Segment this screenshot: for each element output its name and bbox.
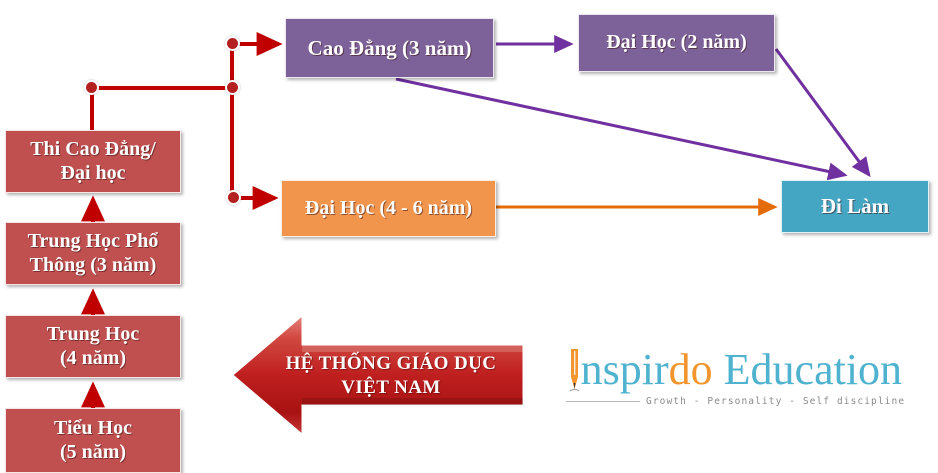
- logo-wordmark: Inspirdo Education: [566, 345, 902, 395]
- logo-word-part3: Education: [713, 345, 902, 394]
- node-cao-dang[interactable]: Cao Đẳng (3 năm): [285, 18, 494, 78]
- node-label-line2: Thông (3 năm): [30, 254, 157, 276]
- node-label: Đi Làm: [821, 194, 889, 219]
- banner-title-line1: HỆ THỐNG GIÁO DỤC: [286, 353, 497, 374]
- logo-tagline-row: Growth - Personality - Self discipline: [566, 396, 896, 407]
- junction-dot: [84, 80, 99, 95]
- node-label-line1: Tiểu Học: [54, 417, 132, 439]
- banner-title-line2: VIỆT NAM: [341, 377, 440, 398]
- node-trung-hoc-pho-thong[interactable]: Trung Học Phổ Thông (3 năm): [5, 222, 181, 285]
- inspirdo-education-logo: Inspirdo Education Growth - Personality …: [566, 345, 896, 413]
- banner-arrow-shape: [233, 316, 523, 434]
- logo-word-part2: do: [669, 345, 713, 394]
- node-label-line1: Trung Học: [47, 323, 139, 345]
- diagram-canvas: Thi Cao Đẳng/ Đại học Trung Học Phổ Thôn…: [0, 0, 938, 473]
- node-label-line2: Đại học: [61, 162, 126, 184]
- logo-divider: [566, 401, 640, 402]
- logo-tagline: Growth - Personality - Self discipline: [646, 396, 905, 407]
- node-label-line1: Thi Cao Đẳng/: [30, 138, 156, 160]
- junction-dot: [225, 36, 240, 51]
- node-label: Đại Học (4 - 6 năm): [305, 197, 472, 221]
- edge-daihoc2-dilam: [776, 49, 869, 175]
- node-label: Cao Đẳng (3 năm): [308, 36, 472, 61]
- logo-word-part1: nspir: [581, 345, 669, 394]
- node-label-line2: (5 năm): [60, 441, 126, 463]
- junction-dot: [225, 80, 240, 95]
- node-thi-cao-dang[interactable]: Thi Cao Đẳng/ Đại học: [5, 130, 181, 193]
- banner-title: HỆ THỐNG GIÁO DỤC VIỆT NAM: [262, 352, 520, 400]
- node-di-lam[interactable]: Đi Làm: [781, 180, 929, 233]
- node-tieu-hoc[interactable]: Tiểu Học (5 năm): [5, 408, 181, 473]
- node-label-line2: (4 năm): [60, 347, 126, 369]
- node-dai-hoc-2-nam[interactable]: Đại Học (2 năm): [578, 14, 775, 72]
- node-dai-hoc-4-6-nam[interactable]: Đại Học (4 - 6 năm): [281, 180, 496, 237]
- junction-dot: [226, 190, 241, 205]
- pen-nib-icon: [568, 349, 581, 395]
- edge-caodang-dilam: [396, 79, 845, 175]
- node-label-line1: Trung Học Phổ: [28, 230, 159, 252]
- node-trung-hoc[interactable]: Trung Học (4 năm): [5, 315, 181, 378]
- node-label: Đại Học (2 năm): [606, 31, 747, 55]
